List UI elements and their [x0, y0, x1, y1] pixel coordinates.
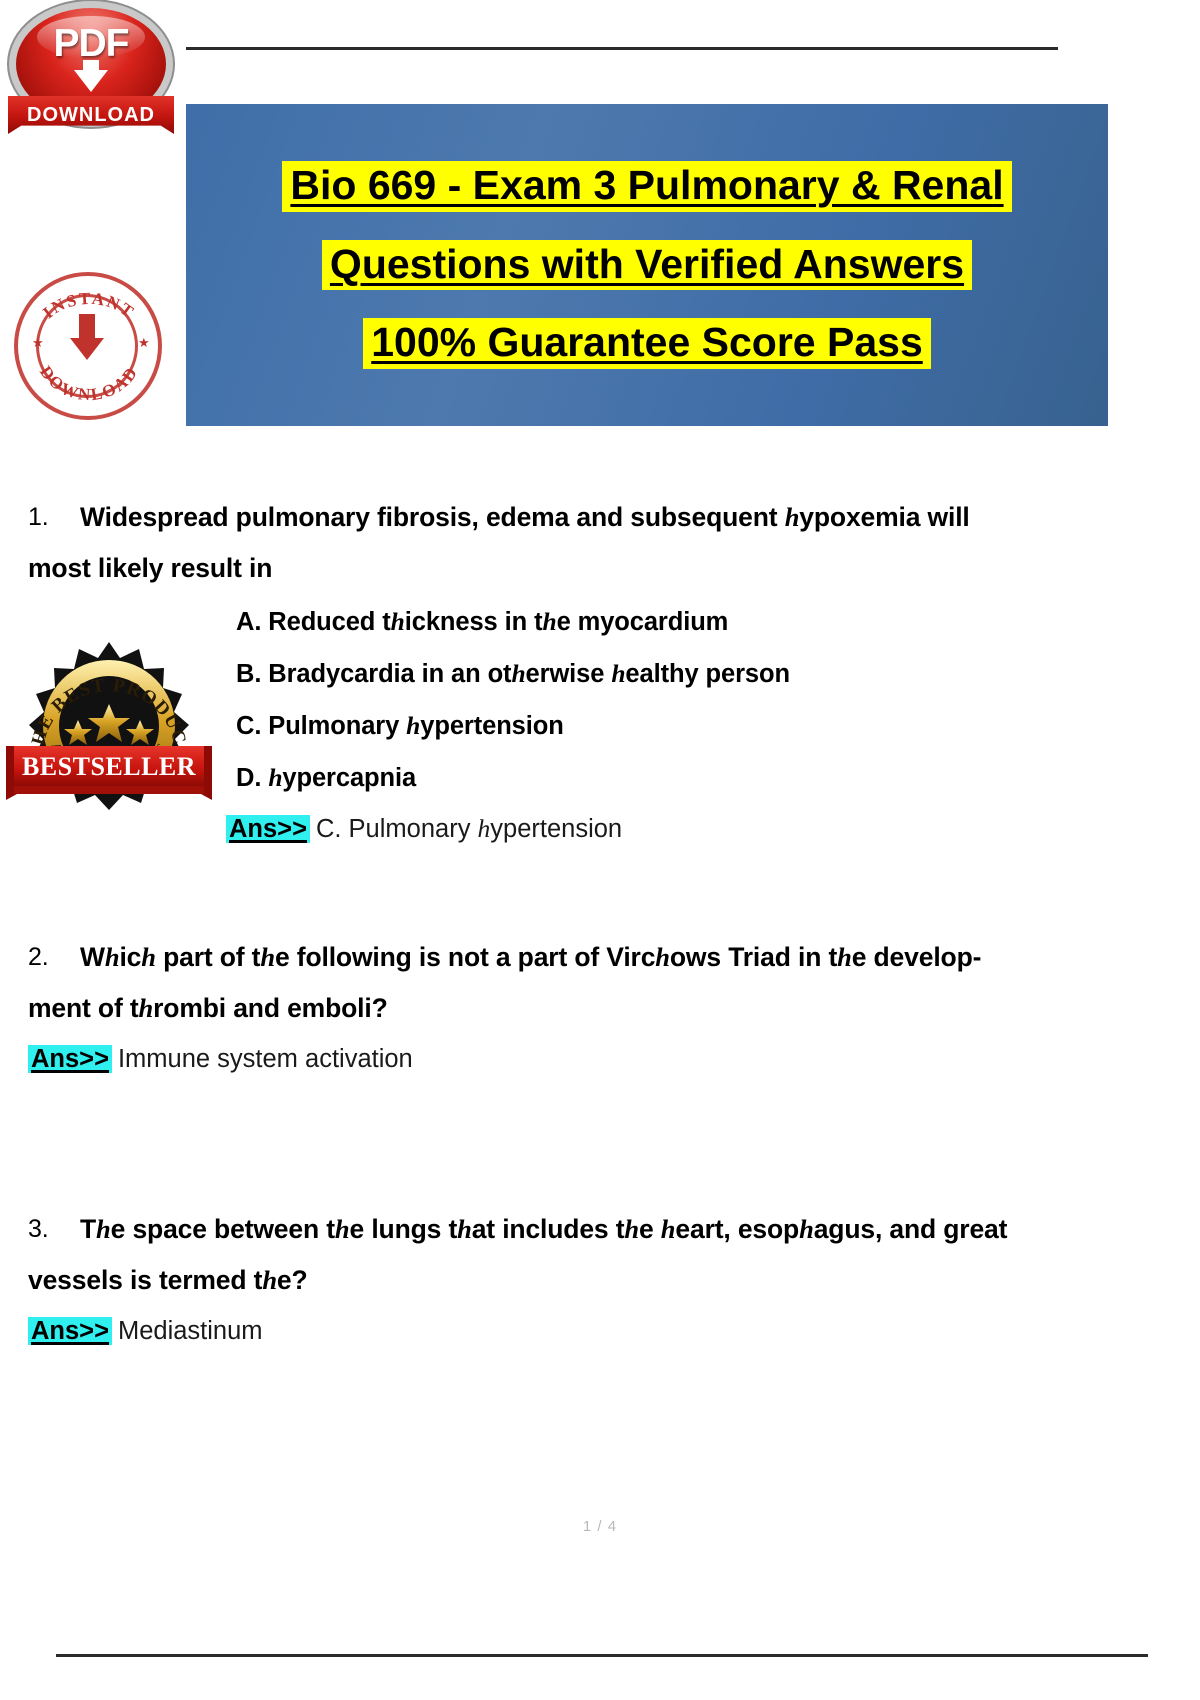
- title-banner: Bio 669 - Exam 3 Pulmonary & Renal Quest…: [186, 104, 1108, 426]
- page-bottom-divider: [56, 1654, 1148, 1657]
- question-3-line-2: vessels is termed the?: [28, 1255, 1114, 1306]
- option-d: D. hypercapnia: [236, 752, 1114, 804]
- question-2-number: 2.: [28, 932, 80, 983]
- page-top-divider: [186, 47, 1058, 50]
- answer-marker: Ans>>: [28, 1045, 112, 1073]
- question-2-line-2: ment of thrombi and emboli?: [28, 983, 1114, 1034]
- answer-3-value: Mediastinum: [118, 1317, 263, 1345]
- option-a: A. Reduced thickness in the myocardium: [236, 596, 1114, 648]
- instant-download-stamp-icon: INSTANT DOWNLOAD ★ ★: [10, 272, 168, 422]
- pdf-download-ribbon-label: DOWNLOAD: [8, 96, 174, 134]
- question-block-1: 1. Widespread pulmonary fibrosis, edema …: [28, 492, 1114, 854]
- stamp-top-text: INSTANT: [39, 289, 138, 323]
- answer-marker: Ans>>: [28, 1317, 112, 1345]
- pdf-download-badge: PDF DOWNLOAD: [8, 8, 174, 142]
- answer-1-value: C. Pulmonary hypertension: [316, 815, 622, 843]
- questions-container: 1. Widespread pulmonary fibrosis, edema …: [28, 492, 1114, 1356]
- question-block-3: 3. The space between the lungs that incl…: [28, 1204, 1114, 1356]
- question-block-2: 2. Which part of the following is not a …: [28, 932, 1114, 1084]
- download-arrow-head-icon: [74, 70, 108, 92]
- stamp-star-right: ★: [138, 336, 150, 349]
- spacer-2: [28, 1084, 1114, 1204]
- question-3-line-1: 3. The space between the lungs that incl…: [28, 1204, 1114, 1255]
- banner-title-line-3: 100% Guarantee Score Pass: [363, 318, 931, 369]
- question-1-line-2: most likely result in: [28, 543, 1114, 594]
- question-3-number: 3.: [28, 1204, 80, 1255]
- question-3-answer: Ans>>Mediastinum: [28, 1306, 1114, 1356]
- question-1-line-1: 1. Widespread pulmonary fibrosis, edema …: [28, 492, 1114, 543]
- page-indicator: 1 / 4: [0, 1518, 1200, 1535]
- answer-2-value: Immune system activation: [118, 1045, 413, 1073]
- spacer-1: [28, 854, 1114, 932]
- banner-title-line-1: Bio 669 - Exam 3 Pulmonary & Renal: [282, 161, 1011, 212]
- question-2-line-1: 2. Which part of the following is not a …: [28, 932, 1114, 983]
- answer-marker: Ans>>: [226, 815, 310, 843]
- question-1-number: 1.: [28, 492, 80, 543]
- question-2-text: Which part of the following is not a par…: [80, 932, 1114, 983]
- option-b: B. Bradycardia in an otherwise healthy p…: [236, 648, 1114, 700]
- question-1-answer: Ans>>C. Pulmonary hypertension: [28, 804, 1114, 854]
- question-1-text: Widespread pulmonary fibrosis, edema and…: [80, 492, 1114, 543]
- option-c: C. Pulmonary hypertension: [236, 700, 1114, 752]
- question-2-answer: Ans>>Immune system activation: [28, 1034, 1114, 1084]
- banner-title-line-2: Questions with Verified Answers: [322, 240, 972, 291]
- stamp-bottom-text: DOWNLOAD: [36, 363, 142, 405]
- document-page: PDF DOWNLOAD INSTANT DOWNLOAD ★ ★: [0, 0, 1200, 1700]
- question-1-options: A. Reduced thickness in the myocardium B…: [28, 596, 1114, 804]
- question-3-text: The space between the lungs that include…: [80, 1204, 1114, 1255]
- stamp-star-left: ★: [32, 336, 44, 349]
